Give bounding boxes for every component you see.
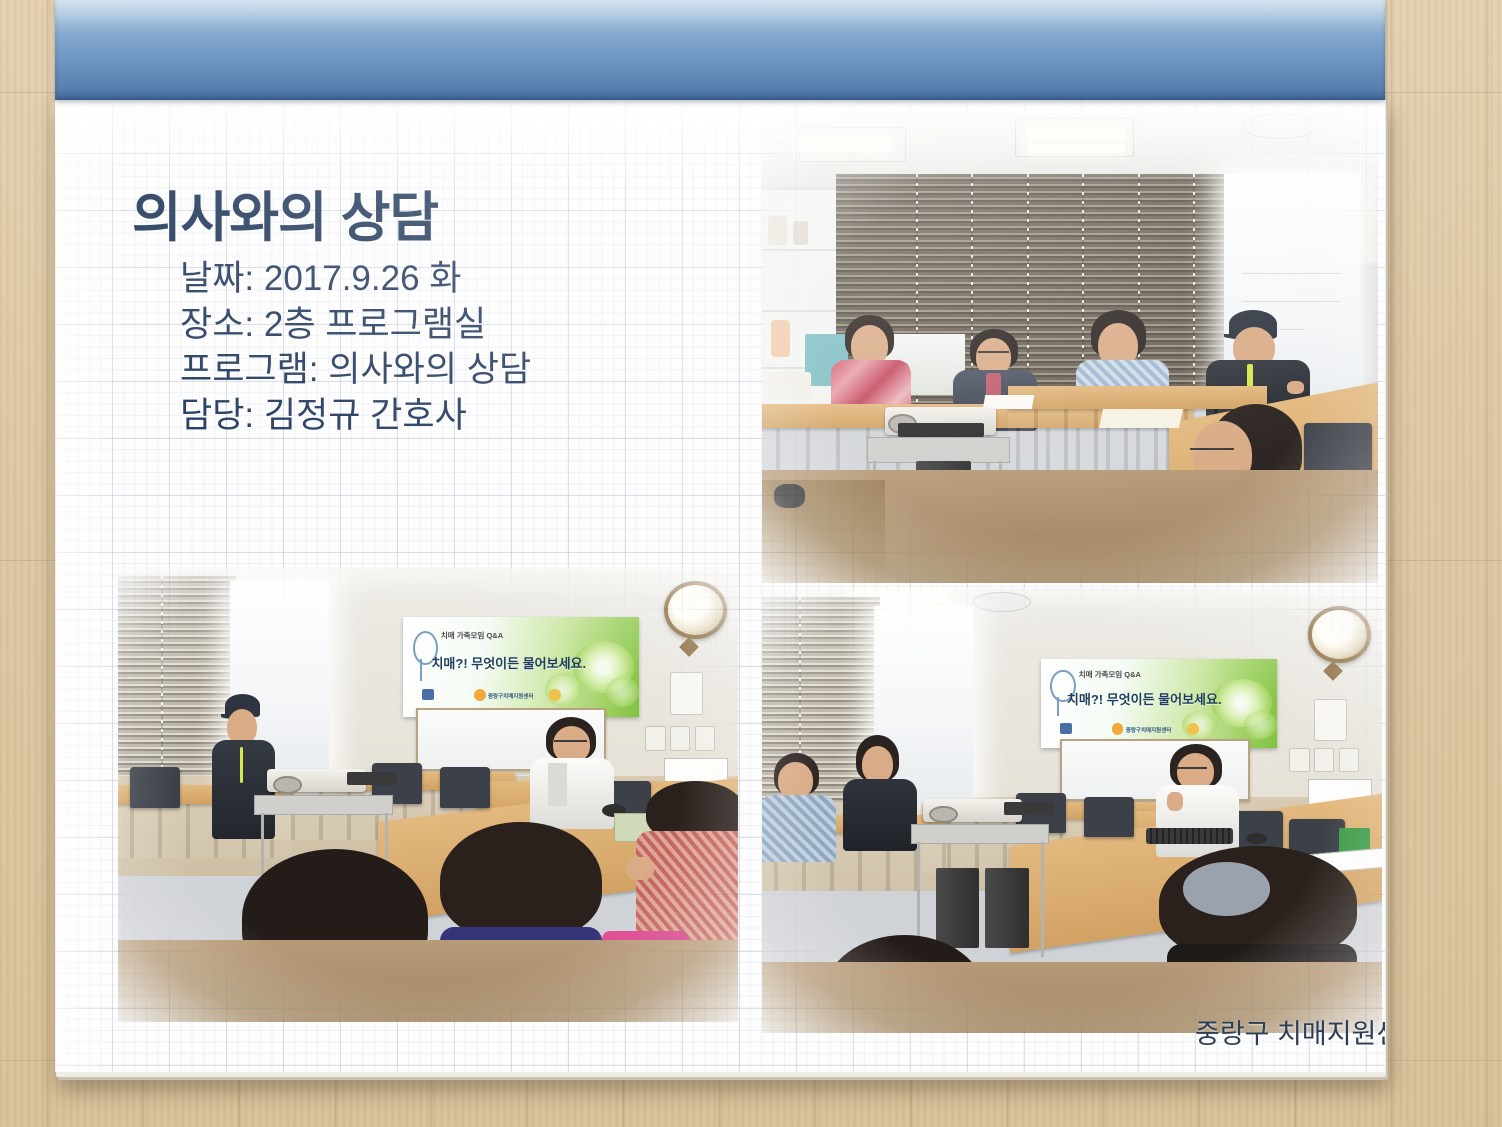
photo-bottom-right: 치매 가족모임 Q&A 치매?! 무엇이든 물어보세요. 중랑구치매지원센터 (762, 588, 1382, 1033)
presentation-slide: 의사와의 상담 날짜: 2017.9.26 화 장소: 2층 프로그램실 프로그… (0, 0, 1502, 1127)
detail-date: 날짜: 2017.9.26 화 (180, 256, 531, 302)
banner-logo-bl: 중랑구치매지원센터 (488, 692, 534, 700)
notebook-page-stack: 의사와의 상담 날짜: 2017.9.26 화 장소: 2층 프로그램실 프로그… (55, 96, 1385, 1072)
banner-line1-br: 치매 가족모임 Q&A (1079, 669, 1141, 680)
banner-logo-br: 중랑구치매지원센터 (1126, 726, 1172, 734)
photo-bottom-left: 치매 가족모임 Q&A 치매?! 무엇이든 물어보세요. 중랑구치매지원센터 (118, 567, 738, 1022)
center-watermark: 중랑구 치매지원센터 (1195, 1012, 1385, 1051)
banner-line2-br: 치매?! 무엇이든 물어보세요. (1067, 689, 1222, 708)
detail-program: 프로그램: 의사와의 상담 (180, 347, 531, 393)
banner-line1-bl: 치매 가족모임 Q&A (441, 630, 503, 641)
banner-line2-bl: 치매?! 무엇이든 물어보세요. (431, 653, 586, 672)
photo-top-right (762, 113, 1378, 583)
slide-title: 의사와의 상담 (132, 173, 438, 252)
detail-staff: 담당: 김정규 간호사 (180, 393, 531, 439)
slide-details-block: 날짜: 2017.9.26 화 장소: 2층 프로그램실 프로그램: 의사와의 … (180, 256, 531, 438)
detail-place: 장소: 2층 프로그램실 (180, 302, 531, 348)
notebook-binding-strip (55, 0, 1385, 100)
graph-paper-page: 의사와의 상담 날짜: 2017.9.26 화 장소: 2층 프로그램실 프로그… (55, 96, 1385, 1072)
